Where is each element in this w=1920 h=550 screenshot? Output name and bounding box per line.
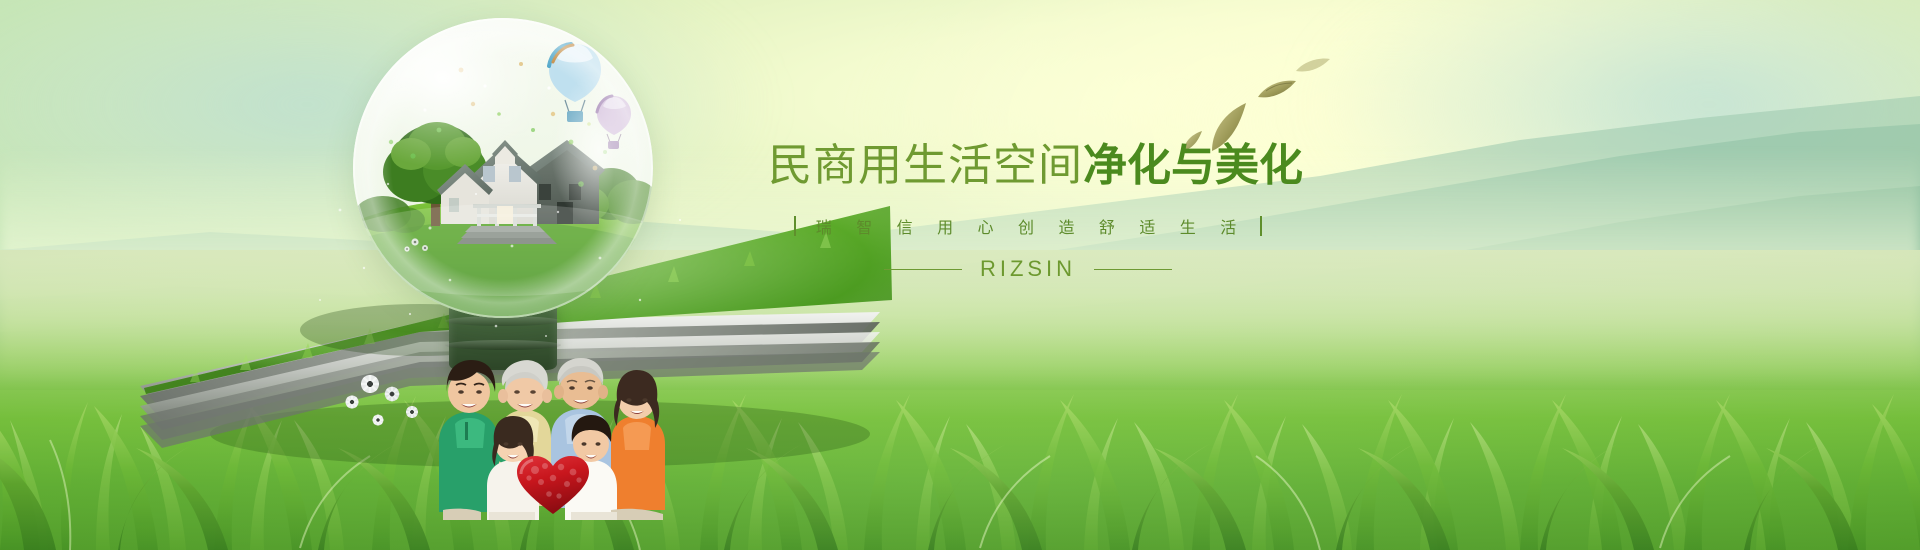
banner-subtitle: 瑞 智 信 用 心 创 造 舒 适 生 活 — [768, 214, 1288, 238]
subtitle-text: 瑞 智 信 用 心 创 造 舒 适 生 活 — [810, 214, 1246, 238]
globe-scene — [353, 18, 653, 318]
subtitle-bar-right-icon — [1260, 216, 1262, 236]
leaf-top — [1258, 81, 1296, 98]
leaf-blur — [1296, 59, 1330, 72]
headline-regular-text: 民商用生活空间 — [768, 141, 1083, 190]
headline-bold-text: 净化与美化 — [1083, 141, 1303, 190]
globe-sphere — [353, 18, 653, 318]
hero-banner: 民商用生活空间净化与美化 瑞 智 信 用 心 创 造 舒 适 生 活 RIZSI… — [0, 0, 1920, 550]
family-group — [425, 310, 685, 520]
brand-line: RIZSIN — [768, 256, 1288, 282]
subtitle-bar-left-icon — [794, 216, 796, 236]
brand-name: RIZSIN — [980, 256, 1076, 282]
banner-text-block: 民商用生活空间净化与美化 瑞 智 信 用 心 创 造 舒 适 生 活 RIZSI… — [768, 140, 1288, 282]
person-mother — [611, 370, 665, 510]
glass-globe — [353, 18, 653, 318]
brand-rule-right-icon — [1094, 269, 1172, 270]
banner-headline: 民商用生活空间净化与美化 — [768, 140, 1288, 192]
brand-rule-left-icon — [884, 269, 962, 270]
